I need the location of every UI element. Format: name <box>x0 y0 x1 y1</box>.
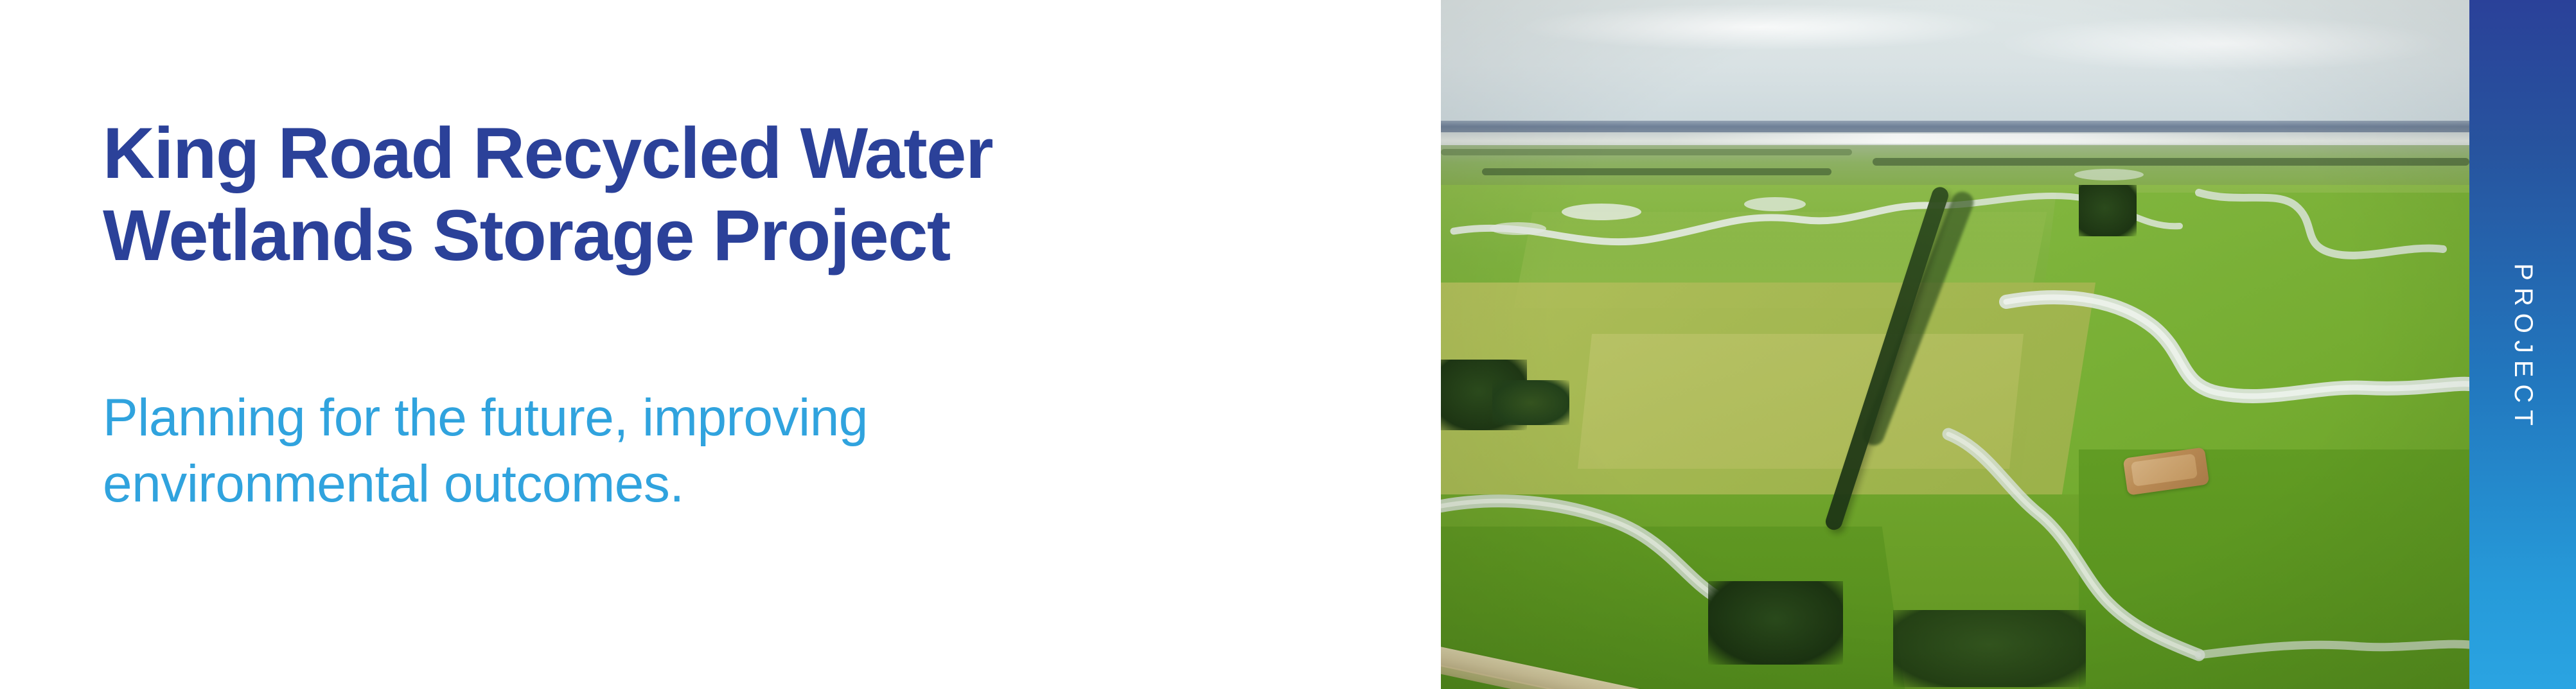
creek-path-main <box>2006 297 2469 396</box>
headline-block: King Road Recycled Water Wetlands Storag… <box>103 112 1400 276</box>
tree-clump <box>2079 185 2137 236</box>
banner-headline: King Road Recycled Water Wetlands Storag… <box>103 112 1400 276</box>
tree-clump <box>1893 610 2086 687</box>
project-side-label: PROJECT <box>2509 256 2537 433</box>
project-side-strip: PROJECT <box>2469 0 2576 689</box>
subheadline-block: Planning for the future, improving envir… <box>103 385 1400 517</box>
aerial-photo <box>1441 0 2469 689</box>
pond-shape <box>1562 204 1641 220</box>
creek-path <box>2199 193 2443 256</box>
pond-shape <box>1490 222 1546 235</box>
creek-path <box>2199 644 2469 655</box>
banner-subheadline: Planning for the future, improving envir… <box>103 385 1400 517</box>
banner-text-panel: King Road Recycled Water Wetlands Storag… <box>0 0 1441 689</box>
tree-clump <box>1708 581 1843 665</box>
project-banner: King Road Recycled Water Wetlands Storag… <box>0 0 2576 689</box>
pond-shape <box>2074 169 2144 180</box>
pond-shape <box>1744 197 1806 211</box>
creek-network <box>1441 0 2469 689</box>
tree-clump <box>1492 380 1569 425</box>
